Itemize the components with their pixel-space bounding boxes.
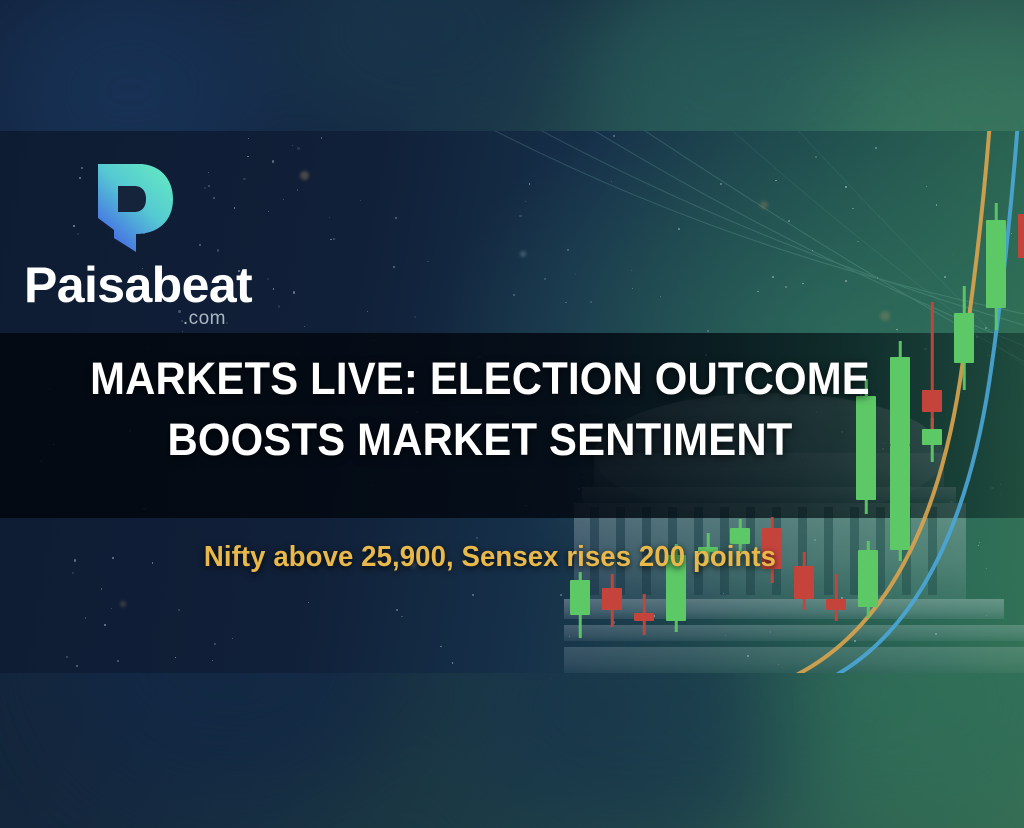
candle-body <box>826 599 846 610</box>
candle-body <box>1018 214 1024 258</box>
candle <box>1018 181 1024 280</box>
candle <box>570 572 590 638</box>
candle <box>986 203 1006 329</box>
candle <box>602 574 622 626</box>
headline-line-2: BOOSTS MARKET SENTIMENT <box>34 410 927 471</box>
candle <box>826 574 846 621</box>
candle-body <box>954 313 974 363</box>
news-banner: Paisabeat .com MARKETS LIVE: ELECTION OU… <box>0 0 1024 828</box>
candle <box>954 286 974 390</box>
candle-body <box>986 220 1006 308</box>
candle-body <box>634 613 654 621</box>
candle <box>634 594 654 635</box>
headline-line-1: MARKETS LIVE: ELECTION OUTCOME <box>34 349 927 410</box>
page-title: MARKETS LIVE: ELECTION OUTCOME BOOSTS MA… <box>34 349 927 471</box>
content-band: Paisabeat .com MARKETS LIVE: ELECTION OU… <box>0 131 1024 673</box>
subtitle: Nifty above 25,900, Sensex rises 200 poi… <box>25 541 956 574</box>
brand-logo[interactable]: Paisabeat .com <box>14 160 314 330</box>
brand-wordmark: Paisabeat <box>14 260 314 310</box>
candle-wick <box>835 574 838 621</box>
candle-body <box>602 588 622 610</box>
candle-body <box>570 580 590 616</box>
paisabeat-p-monogram-icon <box>90 160 176 252</box>
